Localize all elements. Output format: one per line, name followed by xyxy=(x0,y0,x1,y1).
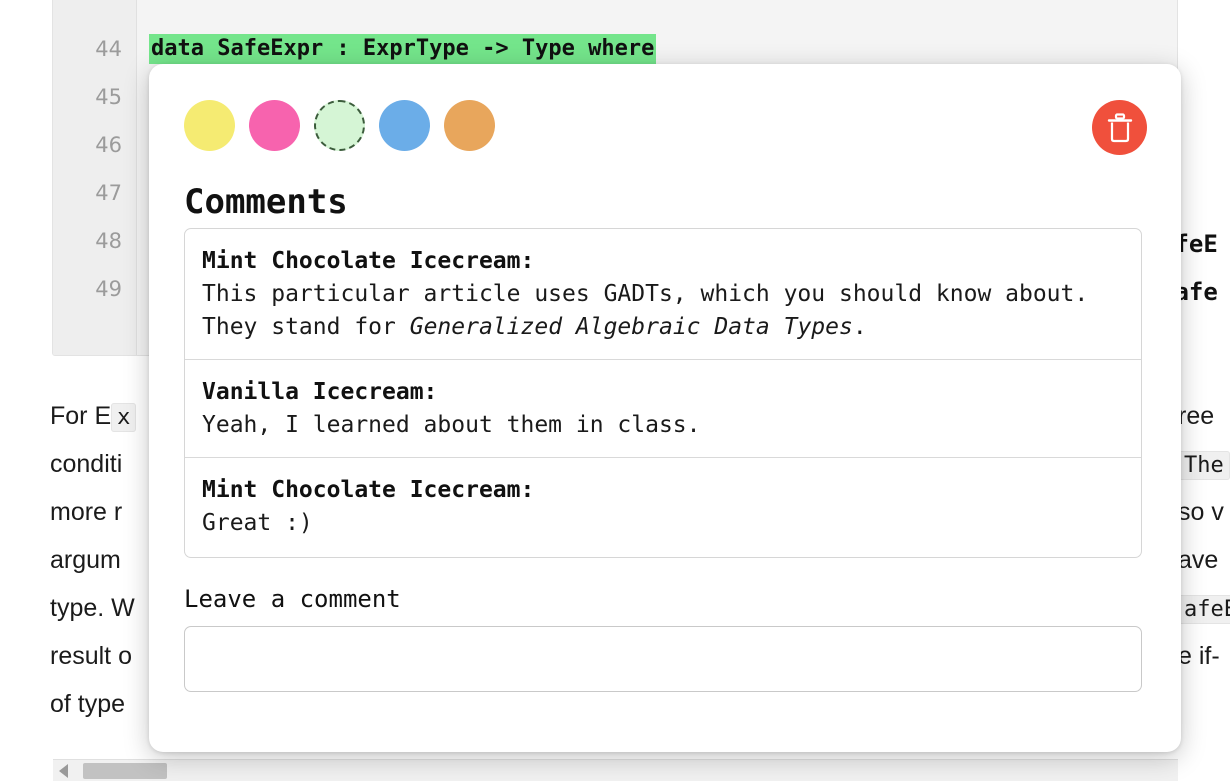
comment-popup-card: Comments Mint Chocolate Icecream: This p… xyxy=(149,64,1181,752)
article-line: The xyxy=(1178,440,1230,488)
leave-a-comment-label: Leave a comment xyxy=(184,585,401,613)
inline-code: x xyxy=(111,403,136,432)
comment-body: This particular article uses GADTs, whic… xyxy=(202,278,1124,344)
triangle-left-icon[interactable] xyxy=(59,764,68,778)
article-line: afeE xyxy=(1178,584,1230,632)
line-number: 46 xyxy=(62,133,122,157)
article-line-text: For E xyxy=(50,402,111,430)
comment-text-tail: . xyxy=(853,314,867,340)
color-swatch-mint[interactable] xyxy=(314,100,365,151)
line-number: 43 xyxy=(62,0,122,1)
color-swatch-row xyxy=(184,100,495,151)
comment-author: Vanilla Icecream: xyxy=(202,376,1124,409)
line-number: 45 xyxy=(62,85,122,109)
color-swatch-pink[interactable] xyxy=(249,100,300,151)
code-line-highlighted: data SafeExpr : ExprType -> Type where xyxy=(149,34,656,64)
article-body-text-right: ree The so v ave afeE e if- xyxy=(1178,392,1230,680)
line-number: 48 xyxy=(62,229,122,253)
article-line: ree xyxy=(1178,392,1230,440)
code-horizontal-scrollbar[interactable] xyxy=(53,759,1178,781)
article-line: ave xyxy=(1178,536,1230,584)
comment-body: Yeah, I learned about them in class. xyxy=(202,409,1124,442)
code-gutter: 43 44 45 46 47 48 49 xyxy=(53,0,137,355)
comment-text: Yeah, I learned about them in class. xyxy=(202,412,701,438)
line-number: 44 xyxy=(62,37,122,61)
comment-author: Mint Chocolate Icecream: xyxy=(202,245,1124,278)
trash-icon xyxy=(1107,113,1133,143)
comment-text-italic: Generalized Algebraic Data Types xyxy=(410,314,853,340)
color-swatch-blue[interactable] xyxy=(379,100,430,151)
page-title: Comments xyxy=(184,182,348,222)
inline-code: The xyxy=(1178,451,1230,480)
comment-item: Mint Chocolate Icecream: This particular… xyxy=(185,229,1141,360)
color-swatch-yellow[interactable] xyxy=(184,100,235,151)
comment-body: Great :) xyxy=(202,507,1124,540)
delete-button[interactable] xyxy=(1092,100,1147,155)
comment-author: Mint Chocolate Icecream: xyxy=(202,474,1124,507)
color-swatch-orange[interactable] xyxy=(444,100,495,151)
line-number: 49 xyxy=(62,277,122,301)
article-line: so v xyxy=(1178,488,1230,536)
comment-input[interactable] xyxy=(184,626,1142,692)
line-number: 47 xyxy=(62,181,122,205)
comment-item: Vanilla Icecream: Yeah, I learned about … xyxy=(185,360,1141,458)
comment-text: Great :) xyxy=(202,510,313,536)
comments-list: Mint Chocolate Icecream: This particular… xyxy=(184,228,1142,558)
article-line: e if- xyxy=(1178,632,1230,680)
inline-code: afeE xyxy=(1178,595,1230,624)
app-root: 43 44 45 46 47 48 49 data SafeExpr : Exp… xyxy=(0,0,1230,781)
comment-item: Mint Chocolate Icecream: Great :) xyxy=(185,458,1141,555)
scrollbar-thumb[interactable] xyxy=(83,763,167,779)
